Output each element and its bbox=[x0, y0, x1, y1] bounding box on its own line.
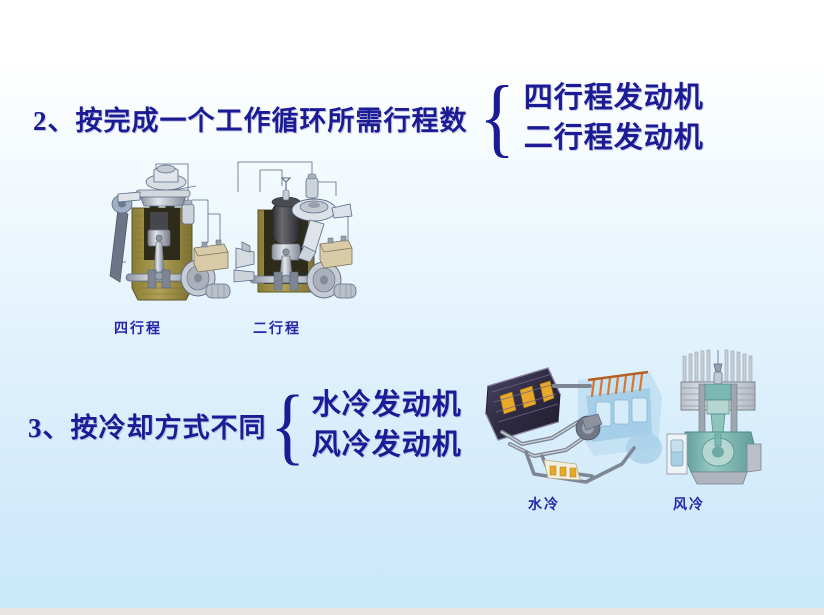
section-2-brace: { bbox=[479, 83, 515, 153]
water-cooling-figure bbox=[482, 352, 672, 490]
air-cooled-engine-figure bbox=[665, 348, 777, 490]
water-cooling-caption: 水冷 bbox=[528, 494, 560, 514]
four-stroke-engine-figure bbox=[96, 156, 236, 314]
section-2-row: 2、按完成一个工作循环所需行程数 { 四行程发动机 二行程发动机 bbox=[33, 78, 704, 158]
section-2-branch-list: 四行程发动机 二行程发动机 bbox=[524, 78, 704, 158]
section-3-title: 3、按冷却方式不同 bbox=[28, 406, 267, 445]
section-3-branch-list: 水冷发动机 风冷发动机 bbox=[312, 385, 462, 465]
air-cooled-caption: 风冷 bbox=[673, 494, 705, 514]
section-2-branch-2: 二行程发动机 bbox=[524, 118, 704, 158]
slide-canvas: 2、按完成一个工作循环所需行程数 { 四行程发动机 二行程发动机 bbox=[0, 0, 824, 615]
two-stroke-caption: 二行程 bbox=[253, 318, 301, 338]
section-3-branch-2: 风冷发动机 bbox=[312, 425, 462, 465]
four-stroke-caption: 四行程 bbox=[114, 318, 162, 338]
bottom-strip bbox=[0, 608, 824, 615]
section-2-title: 2、按完成一个工作循环所需行程数 bbox=[33, 99, 468, 138]
two-stroke-engine-figure bbox=[232, 152, 358, 314]
section-3-brace: { bbox=[270, 391, 305, 460]
section-2-branch-1: 四行程发动机 bbox=[524, 78, 704, 118]
section-3-row: 3、按冷却方式不同 { 水冷发动机 风冷发动机 bbox=[28, 385, 462, 465]
section-3-branch-1: 水冷发动机 bbox=[312, 385, 462, 425]
